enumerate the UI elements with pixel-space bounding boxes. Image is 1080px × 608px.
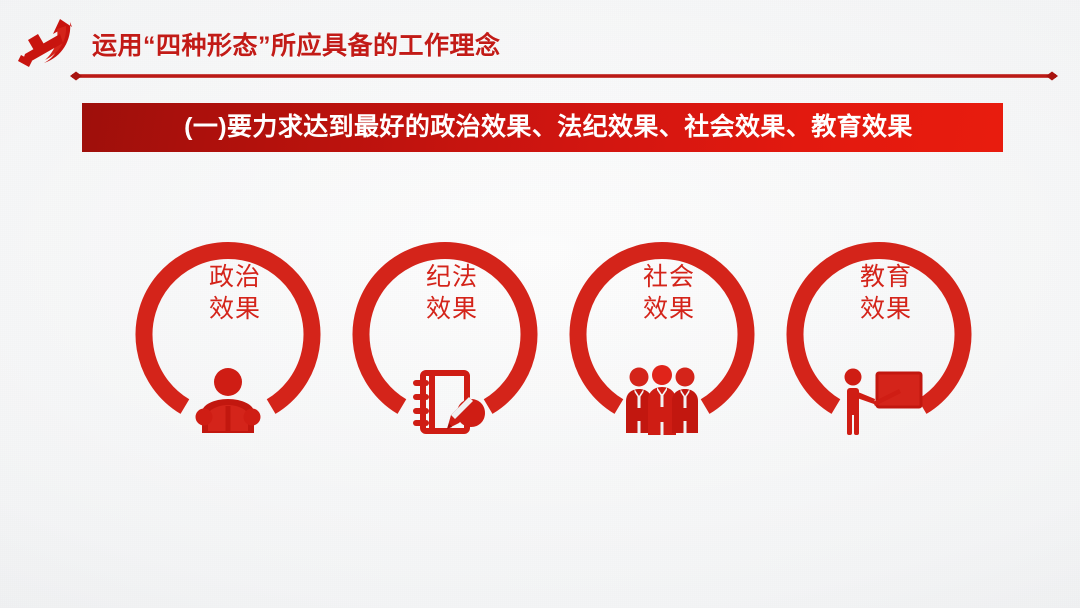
slide-canvas: 运用“四种形态”所应具备的工作理念 (一)要力求达到最好的政治效果、法纪效果、社… [0,0,1080,608]
header-divider-rule [64,69,1064,73]
effect-circle-label: 教育 效果 [786,262,986,325]
effect-circle-discipline-law[interactable]: 纪法 效果 [345,236,545,441]
effect-circle-education[interactable]: 教育 效果 [779,236,979,441]
effect-circle-label: 纪法 效果 [352,262,552,325]
effect-circle-label: 政治 效果 [135,262,335,325]
effect-circle-label: 社会 效果 [569,262,769,325]
effect-circle-social[interactable]: 社会 效果 [562,236,762,441]
cpc-hammer-sickle-emblem-icon [16,16,82,78]
person-reading-book-icon [182,365,274,437]
effects-circle-row: 政治 效果 [0,236,1080,446]
effect-circle-political[interactable]: 政治 效果 [128,236,328,441]
page-title: 运用“四种形态”所应具备的工作理念 [92,26,501,62]
section-banner: (一)要力求达到最好的政治效果、法纪效果、社会效果、教育效果 [82,103,1003,152]
teacher-at-board-icon [833,365,925,437]
notebook-with-pen-icon [399,365,491,437]
section-banner-text: (一)要力求达到最好的政治效果、法纪效果、社会效果、教育效果 [184,115,913,140]
three-people-group-icon [616,365,708,437]
